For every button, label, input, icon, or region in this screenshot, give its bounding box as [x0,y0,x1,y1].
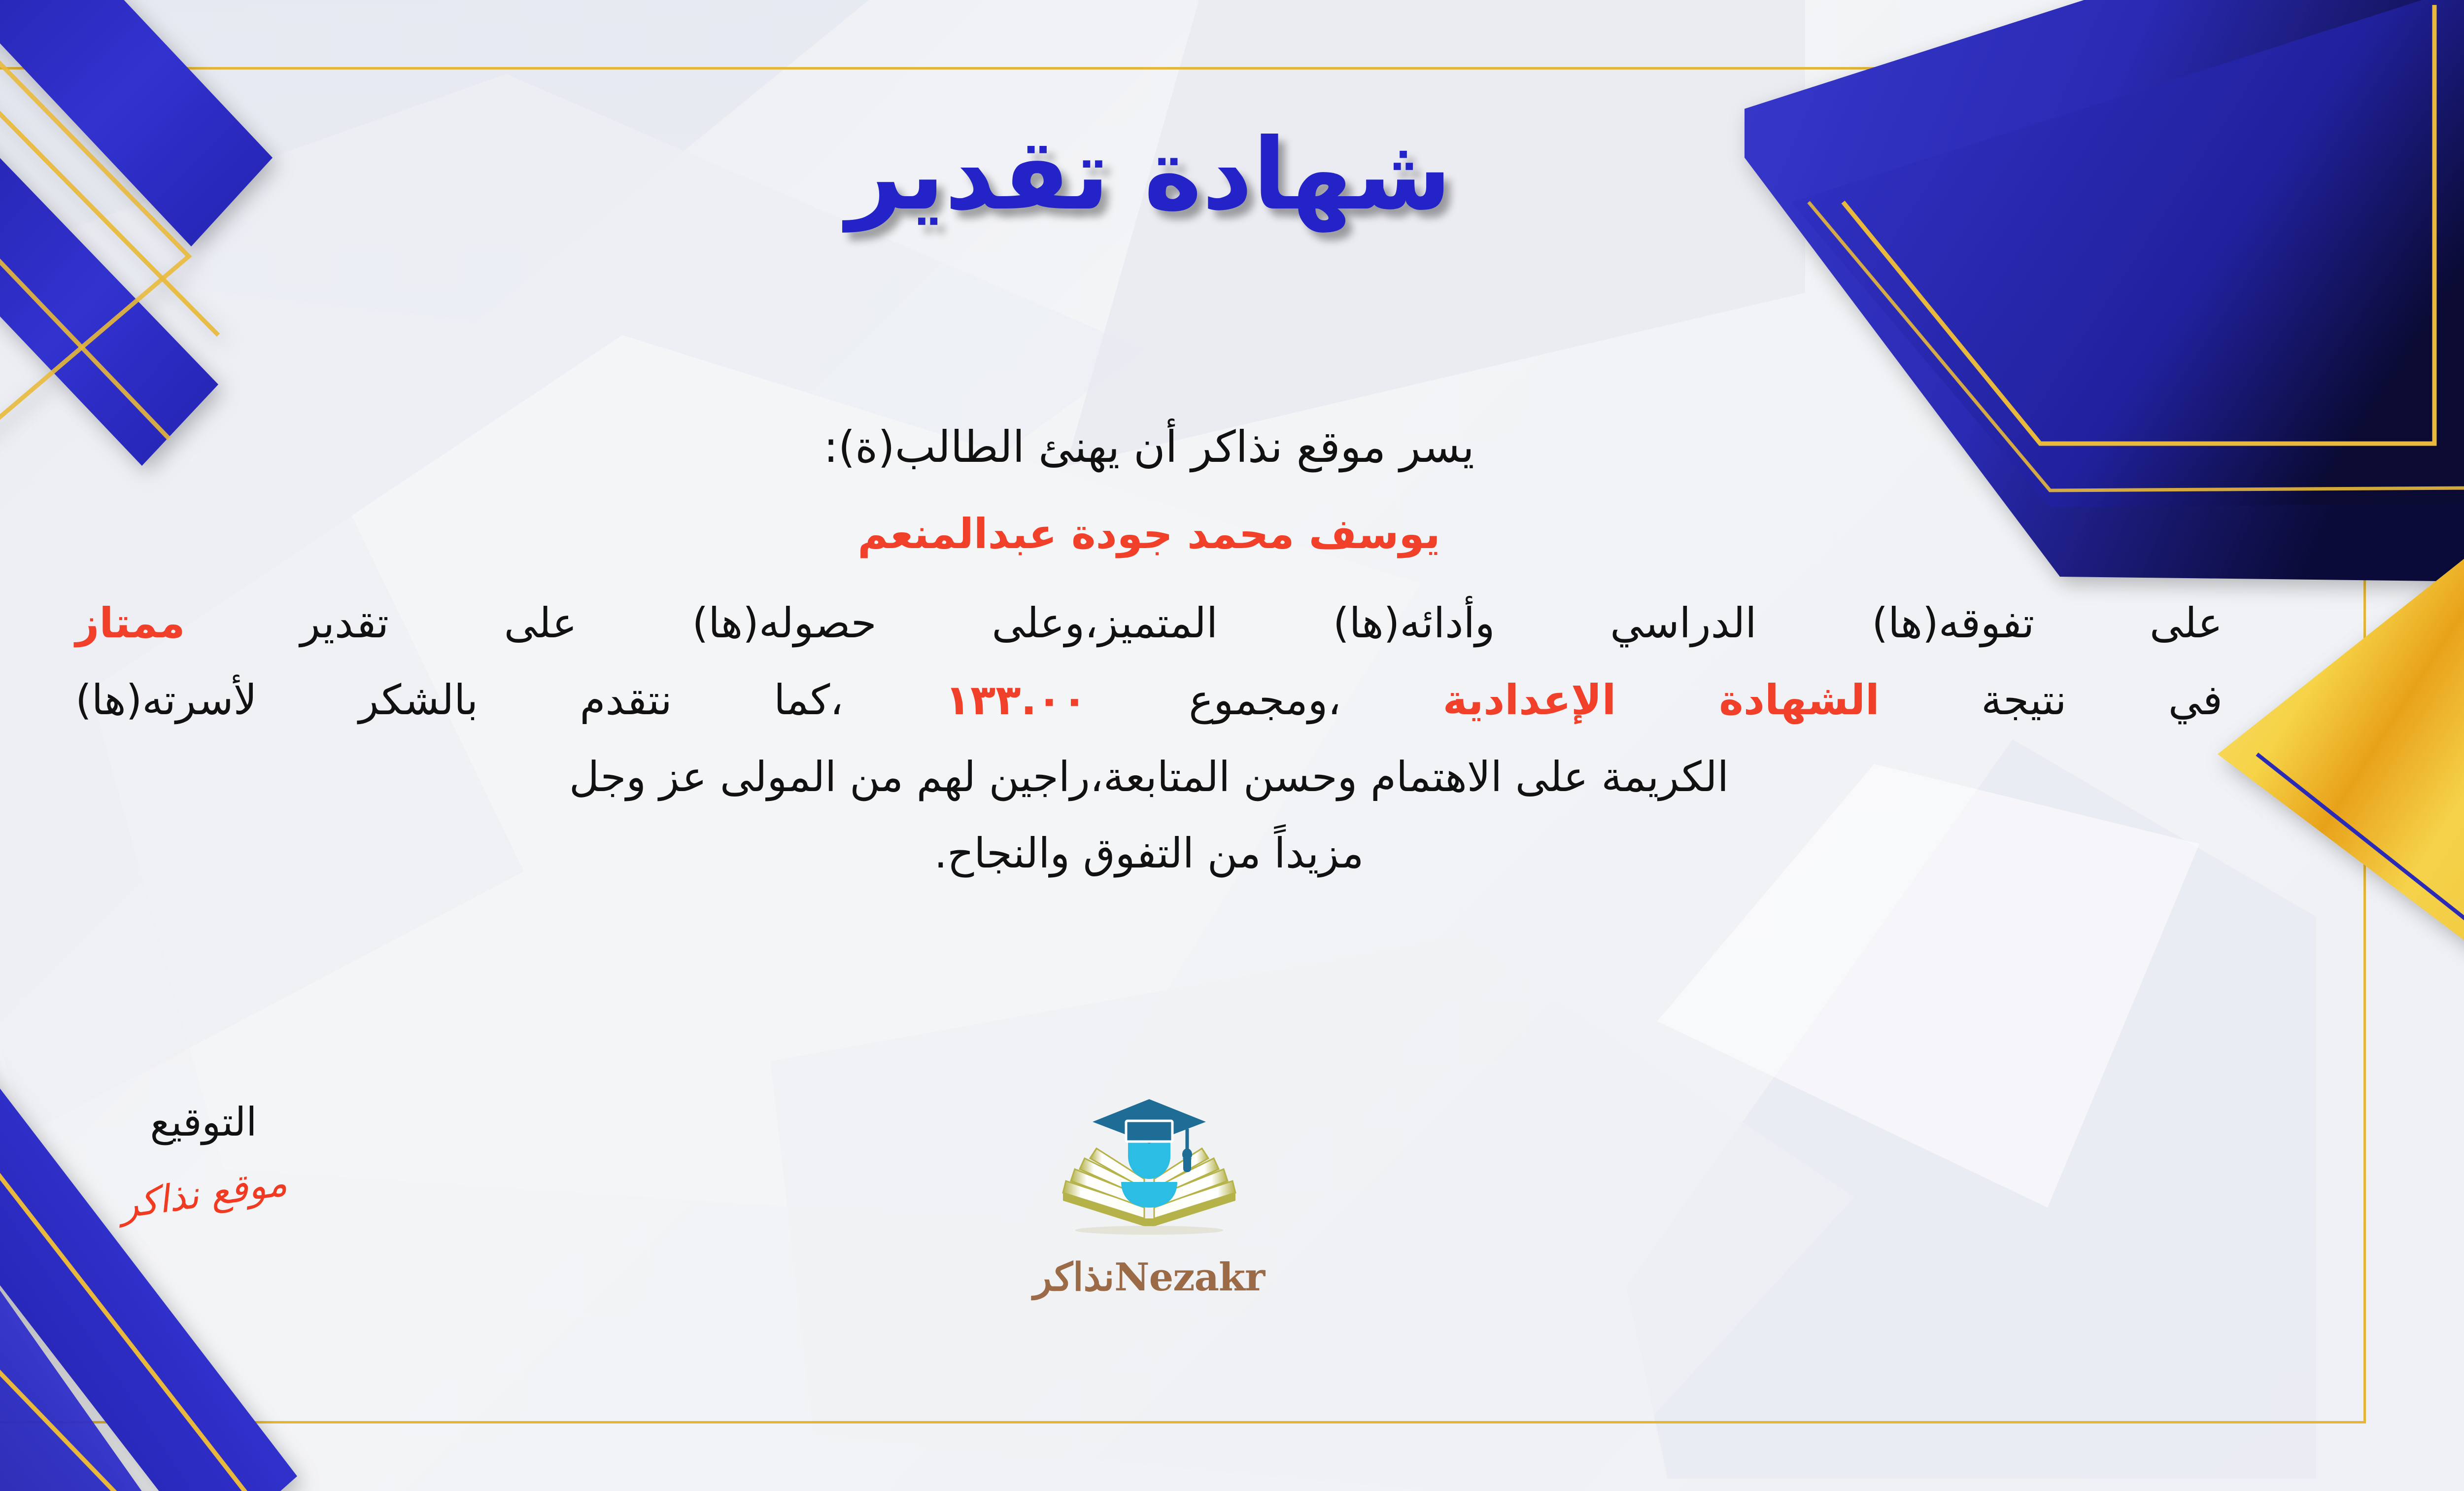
signature-label: التوقيع [0,1099,425,1145]
certificate-body: يسر موقع نذاكر أن يهنئ الطالب(ة): يوسف م… [31,414,2267,899]
exam-line: في نتيجة الشهادة الإعدادية ،ومجموع ١٣٣.٠… [31,669,2267,732]
total-prefix: ،ومجموع [1189,676,1341,724]
signature-block: التوقيع موقع نذاكر [0,1099,425,1215]
intro-line: يسر موقع نذاكر أن يهنئ الطالب(ة): [31,414,2267,480]
exam-prefix: في نتيجة [1981,676,2223,724]
closing-line: مزيداً من التفوق والنجاح. [31,822,2267,885]
exam-name: الشهادة الإعدادية [1443,676,1880,724]
certificate-title: شهادة تقدير [0,113,2464,237]
logo-wordmark: Nezakrنذاكر [992,1255,1307,1300]
total-score: ١٣٣.٠٠ [945,676,1087,724]
signature-script: موقع نذاكر [117,1160,290,1227]
logo-mark [1043,1094,1255,1257]
family-thanks-line: الكريمة على الاهتمام وحسن المتابعة،راجين… [31,746,2267,809]
grade-value: ممتاز [75,599,185,647]
achievement-text: على تفوقه(ها) الدراسي وأدائه(ها) المتميز… [300,599,2223,647]
achievement-line: على تفوقه(ها) الدراسي وأدائه(ها) المتميز… [31,592,2267,655]
certificate-page: شهادة تقدير يسر موقع نذاكر أن يهنئ الطال… [0,0,2464,1491]
certificate-footer: التوقيع موقع نذاكر [0,1099,2316,1405]
student-name: يوسف محمد جودة عبدالمنعم [31,503,2267,566]
site-logo: Nezakrنذاكر [992,1094,1307,1300]
thanks-prefix: ،كما نتقدم بالشكر لأسرته(ها) [75,676,843,724]
